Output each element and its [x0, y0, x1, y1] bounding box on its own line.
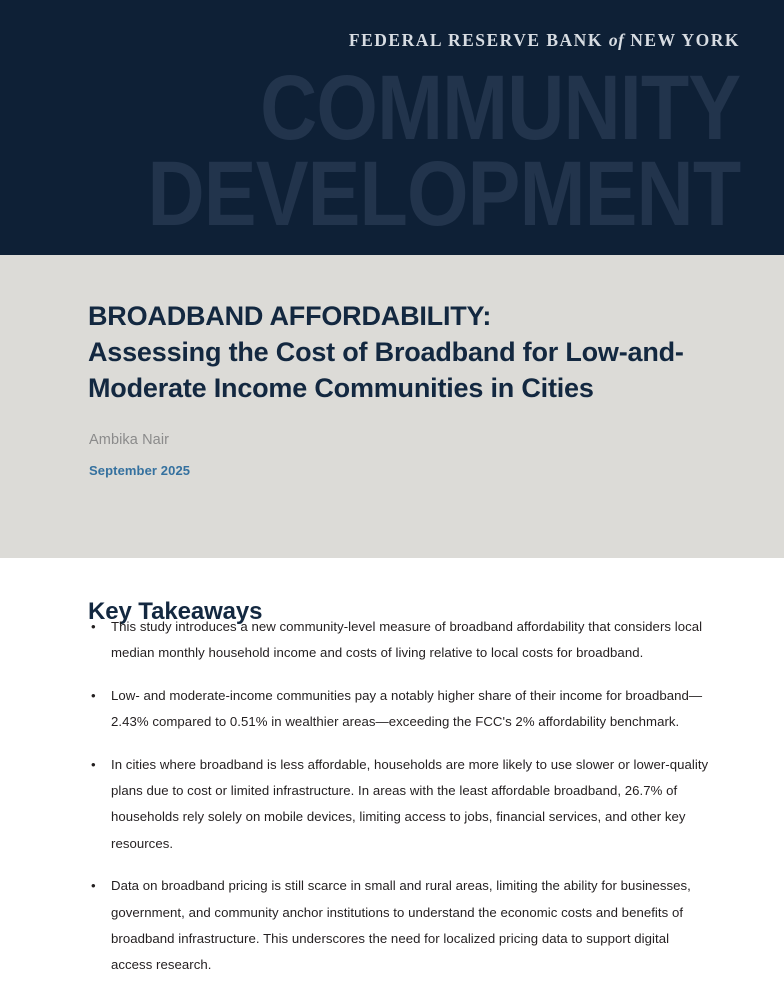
list-item-text: Low- and moderate-income communities pay… [111, 688, 702, 729]
author-name: Ambika Nair [89, 432, 169, 448]
page-title: BROADBAND AFFORDABILITY: Assessing the C… [88, 298, 728, 407]
community-development-watermark: COMMUNITY DEVELOPMENT [0, 62, 784, 252]
watermark-line-community: COMMUNITY [260, 62, 740, 154]
title-line-2: Assessing the Cost of Broadband for Low-… [88, 334, 728, 370]
list-item-text: This study introduces a new community-le… [111, 619, 702, 660]
list-item-text: In cities where broadband is less afford… [111, 757, 708, 851]
bullet-icon: • [91, 752, 96, 778]
bullet-icon: • [91, 683, 96, 709]
bullet-icon: • [91, 873, 96, 899]
brand-prefix: FEDERAL RESERVE BANK [349, 30, 603, 50]
list-item: • This study introduces a new community-… [88, 614, 714, 667]
list-item: • Data on broadband pricing is still sca… [88, 873, 714, 979]
watermark-line-development: DEVELOPMENT [147, 148, 740, 240]
federal-reserve-brand-logo: FEDERAL RESERVE BANK of NEW YORK [349, 30, 740, 51]
list-item: • Low- and moderate-income communities p… [88, 683, 714, 736]
bullet-icon: • [91, 614, 96, 640]
title-band: BROADBAND AFFORDABILITY: Assessing the C… [0, 255, 784, 558]
list-item-text: Data on broadband pricing is still scarc… [111, 878, 691, 972]
brand-suffix: NEW YORK [630, 30, 740, 50]
body-content: Key Takeaways • This study introduces a … [0, 558, 784, 960]
title-line-1: BROADBAND AFFORDABILITY: [88, 298, 728, 334]
brand-of: of [609, 30, 625, 50]
publication-date: September 2025 [89, 463, 190, 478]
masthead-banner: FEDERAL RESERVE BANK of NEW YORK COMMUNI… [0, 0, 784, 255]
title-line-3: Moderate Income Communities in Cities [88, 370, 728, 406]
list-item: • In cities where broadband is less affo… [88, 752, 714, 858]
key-takeaways-list: • This study introduces a new community-… [88, 614, 714, 995]
